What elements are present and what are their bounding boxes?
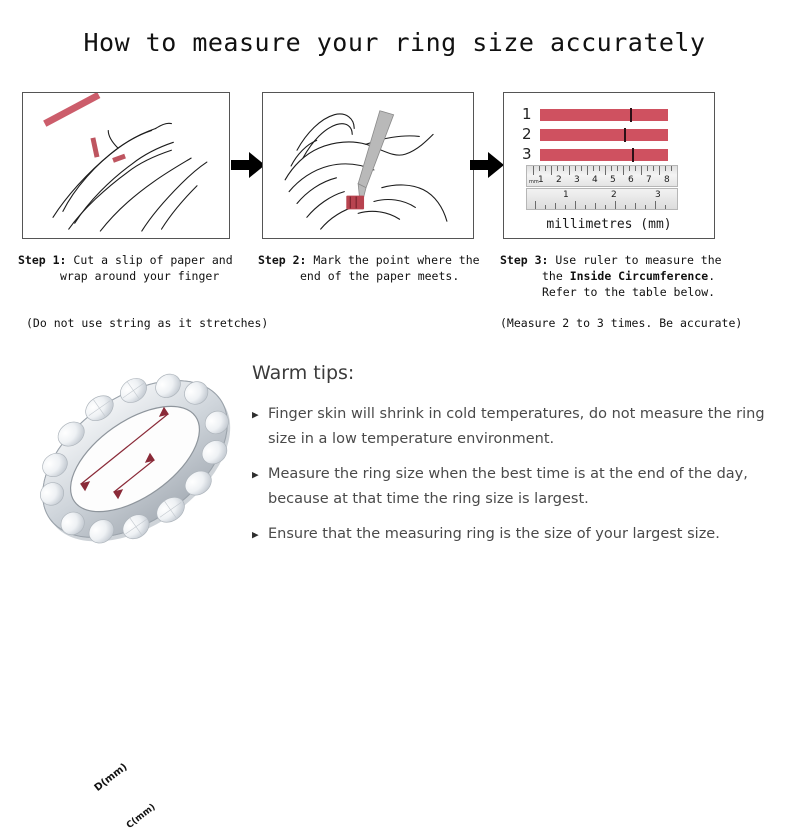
tip-item: ▶ Finger skin will shrink in cold temper…	[252, 402, 772, 452]
steps-row: 1 2 3	[0, 92, 789, 242]
ring-diagram: D(mm) C(mm)	[18, 352, 252, 567]
step-1-line2: wrap around your finger	[18, 268, 248, 284]
ruler-mm-num-3: 3	[574, 175, 580, 185]
step-3-line2-suffix: .	[708, 269, 715, 283]
tip-text: Ensure that the measuring ring is the si…	[268, 522, 720, 547]
tip-item: ▶ Measure the ring size when the best ti…	[252, 462, 772, 512]
ruler-inch-num-1: 1	[563, 190, 569, 200]
ruler-unit-label: millimetres (mm)	[504, 217, 714, 232]
tip-item: ▶ Ensure that the measuring ring is the …	[252, 522, 772, 547]
step-2-line2: end of the paper meets.	[258, 268, 493, 284]
ruler-mm-num-5: 5	[610, 175, 616, 185]
paper-strip-row-3: 3	[522, 147, 668, 162]
arrow-shaft	[470, 160, 490, 170]
step-3-line3: Refer to the table below.	[500, 284, 765, 300]
ruler-inch-num-3: 3	[655, 190, 661, 200]
ruler-mm-num-4: 4	[592, 175, 598, 185]
step-2-illustration-panel	[262, 92, 474, 239]
hand-paper-drawing	[23, 93, 229, 238]
warm-tips-section: Warm tips: ▶ Finger skin will shrink in …	[252, 362, 772, 557]
ruler-mm-num-1: 1	[538, 175, 544, 185]
step-2-caption: Step 2: Mark the point where the end of …	[258, 252, 493, 284]
step-3-label: Step 3:	[500, 253, 548, 267]
eternity-ring-image	[18, 352, 252, 567]
ruler-mm-scale: mm 1 2 3 4 5 6 7 8	[526, 165, 678, 187]
step-3-caption: Step 3: Use ruler to measure the the Ins…	[500, 252, 765, 300]
step-1-note: (Do not use string as it stretches)	[26, 316, 268, 330]
step-3-note: (Measure 2 to 3 times. Be accurate)	[500, 316, 742, 330]
ruler-mm-num-7: 7	[646, 175, 652, 185]
triangle-bullet-icon: ▶	[252, 462, 268, 512]
paper-strip-2	[540, 129, 668, 141]
step-3-measurement-panel: 1 2 3	[503, 92, 715, 239]
triangle-bullet-icon: ▶	[252, 522, 268, 547]
paper-strip-row-2: 2	[522, 127, 668, 142]
step-1-line1: Cut a slip of paper and	[73, 253, 232, 267]
step-1-caption: Step 1: Cut a slip of paper and wrap aro…	[18, 252, 248, 284]
arrow-step2-to-step3	[470, 152, 504, 178]
step-3-emphasis: Inside Circumference	[570, 269, 708, 283]
strip-mark-1	[630, 108, 632, 122]
paper-strip-row-1: 1	[522, 107, 668, 122]
hands-marking-drawing	[263, 93, 473, 238]
step-2-line1: Mark the point where the	[313, 253, 479, 267]
ruler-mm-num-8: 8	[664, 175, 670, 185]
paper-strip-1	[540, 109, 668, 121]
ring-diameter-label: D(mm)	[93, 762, 130, 794]
strip-number-3: 3	[522, 147, 540, 162]
page-title: How to measure your ring size accurately	[0, 28, 789, 57]
ruler: mm 1 2 3 4 5 6 7 8	[526, 165, 678, 213]
step-1-label: Step 1:	[18, 253, 66, 267]
tip-text: Finger skin will shrink in cold temperat…	[268, 402, 772, 452]
arrow-shaft	[231, 160, 251, 170]
ruler-mm-num-6: 6	[628, 175, 634, 185]
strip-number-2: 2	[522, 127, 540, 142]
warm-tips-heading: Warm tips:	[252, 362, 772, 384]
ruler-mm-num-2: 2	[556, 175, 562, 185]
strip-mark-2	[624, 128, 626, 142]
tip-text: Measure the ring size when the best time…	[268, 462, 772, 512]
step-3-line2-prefix: the	[542, 269, 570, 283]
triangle-bullet-icon: ▶	[252, 402, 268, 452]
ring-circumference-label: C(mm)	[125, 802, 158, 831]
step-3-line2: the Inside Circumference.	[500, 268, 765, 284]
ring-size-guide: How to measure your ring size accurately	[0, 0, 789, 606]
arrow-step1-to-step2	[231, 152, 265, 178]
paper-strip-3	[540, 149, 668, 161]
step-3-line1: Use ruler to measure the	[555, 253, 721, 267]
ruler-inch-num-2: 2	[611, 190, 617, 200]
strip-mark-3	[632, 148, 634, 162]
arrow-head	[488, 152, 504, 178]
step-1-illustration-panel	[22, 92, 230, 239]
ruler-inch-scale: 1 2 3	[526, 188, 678, 210]
strip-number-1: 1	[522, 107, 540, 122]
step-2-label: Step 2:	[258, 253, 306, 267]
